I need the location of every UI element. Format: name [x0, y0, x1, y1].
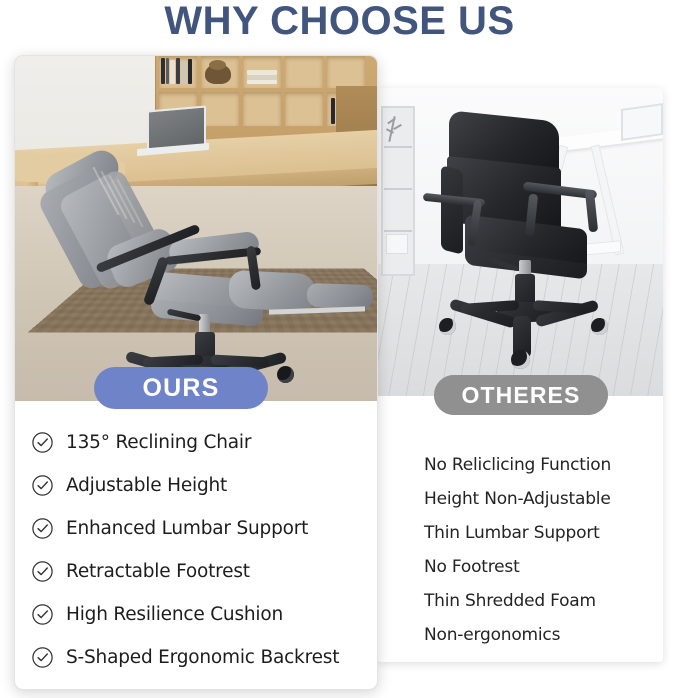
- table-row: High Resilience Cushion: [31, 595, 376, 633]
- photo-wall-art: [385, 114, 409, 148]
- ours-feature-list: 135° Reclining Chair Adjustable Height E…: [31, 423, 376, 681]
- feature-label: 135° Reclining Chair: [66, 432, 251, 453]
- table-row: Enhanced Lumbar Support: [31, 509, 376, 547]
- photo-black-office-chair: [415, 110, 645, 380]
- check-circle-icon: [31, 646, 54, 669]
- feature-label: High Resilience Cushion: [66, 604, 283, 625]
- table-row: Retractable Footrest: [31, 552, 376, 590]
- drawback-label: No Footrest: [424, 557, 520, 577]
- table-row: Adjustable Height: [31, 466, 376, 504]
- check-circle-icon: [31, 431, 54, 454]
- list-item: No Footrest: [424, 550, 674, 584]
- others-product-photo: [377, 88, 663, 396]
- check-circle-icon: [31, 474, 54, 497]
- ours-product-photo: [15, 56, 377, 401]
- table-row: S-Shaped Ergonomic Backrest: [31, 638, 376, 676]
- list-item: Thin Shredded Foam: [424, 584, 674, 618]
- list-item: No Reliclicing Function: [424, 448, 674, 482]
- list-item: Height Non-Adjustable: [424, 482, 674, 516]
- drawback-label: Thin Lumbar Support: [424, 523, 600, 543]
- drawback-label: Height Non-Adjustable: [424, 489, 611, 509]
- drawback-label: Non-ergonomics: [424, 625, 560, 645]
- drawback-label: No Reliclicing Function: [424, 455, 611, 475]
- check-circle-icon: [31, 603, 54, 626]
- drawback-label: Thin Shredded Foam: [424, 591, 596, 611]
- check-circle-icon: [31, 517, 54, 540]
- ours-panel: OURS 135° Reclining Chair Adjustable Hei…: [14, 55, 378, 690]
- feature-label: Enhanced Lumbar Support: [66, 518, 308, 539]
- feature-label: Retractable Footrest: [66, 561, 250, 582]
- list-item: Thin Lumbar Support: [424, 516, 674, 550]
- list-item: Non-ergonomics: [424, 618, 674, 652]
- page-title: WHY CHOOSE US: [0, 0, 679, 44]
- others-badge: OTHERES: [434, 375, 608, 415]
- table-row: 135° Reclining Chair: [31, 423, 376, 461]
- check-circle-icon: [31, 560, 54, 583]
- ours-badge: OURS: [94, 367, 268, 409]
- others-drawback-list: No Reliclicing Function Height Non-Adjus…: [424, 448, 674, 652]
- photo-grey-reclining-chair: [33, 116, 373, 386]
- feature-label: Adjustable Height: [66, 475, 227, 496]
- feature-label: S-Shaped Ergonomic Backrest: [66, 647, 339, 668]
